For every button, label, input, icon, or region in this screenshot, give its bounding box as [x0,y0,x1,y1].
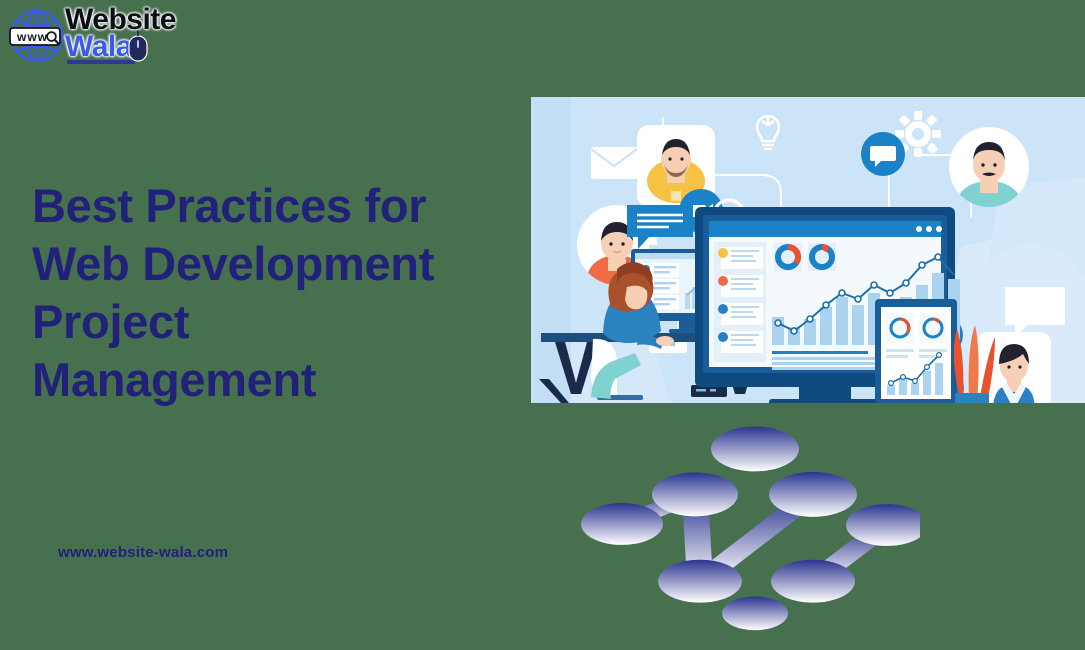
website-url[interactable]: www.website-wala.com [58,544,228,561]
page-title-line-4: Management [32,353,316,406]
donut-chart-1 [774,243,802,271]
poster-canvas: www Website Wala Best Practices for [0,0,1085,645]
logo-search-text: www [16,30,48,44]
window-dots [916,226,942,232]
envelope-icon [591,147,637,179]
tablet-donut-2 [919,313,947,343]
mouse-icon [126,30,150,62]
brand-logo[interactable]: www Website Wala [8,4,188,68]
page-title-line-1: Best Practices for [32,179,426,232]
network-node-lower-left [658,560,742,603]
globe-icon: www [8,7,66,65]
network-node-upper-right [769,472,857,517]
brand-underline [67,60,135,64]
network-node-left [581,503,663,545]
network-node-bottom [722,596,788,630]
network-node-circles [581,426,920,630]
network-node-lower-right [771,560,855,603]
page-title-line-3: Project [32,295,189,348]
chat-bubble-icon [861,132,905,176]
network-node-upper-left [652,472,738,516]
network-node-top [711,426,799,471]
page-title: Best Practices for Web Development Proje… [32,177,522,409]
tablet [875,299,957,403]
page-title-line-2: Web Development [32,237,434,290]
network-nodes-graphic [580,405,920,645]
brand-name-line2: Wala [65,32,132,62]
hero-illustration [531,97,1085,403]
tablet-donut-1 [886,313,914,343]
donut-chart-2 [808,243,836,271]
